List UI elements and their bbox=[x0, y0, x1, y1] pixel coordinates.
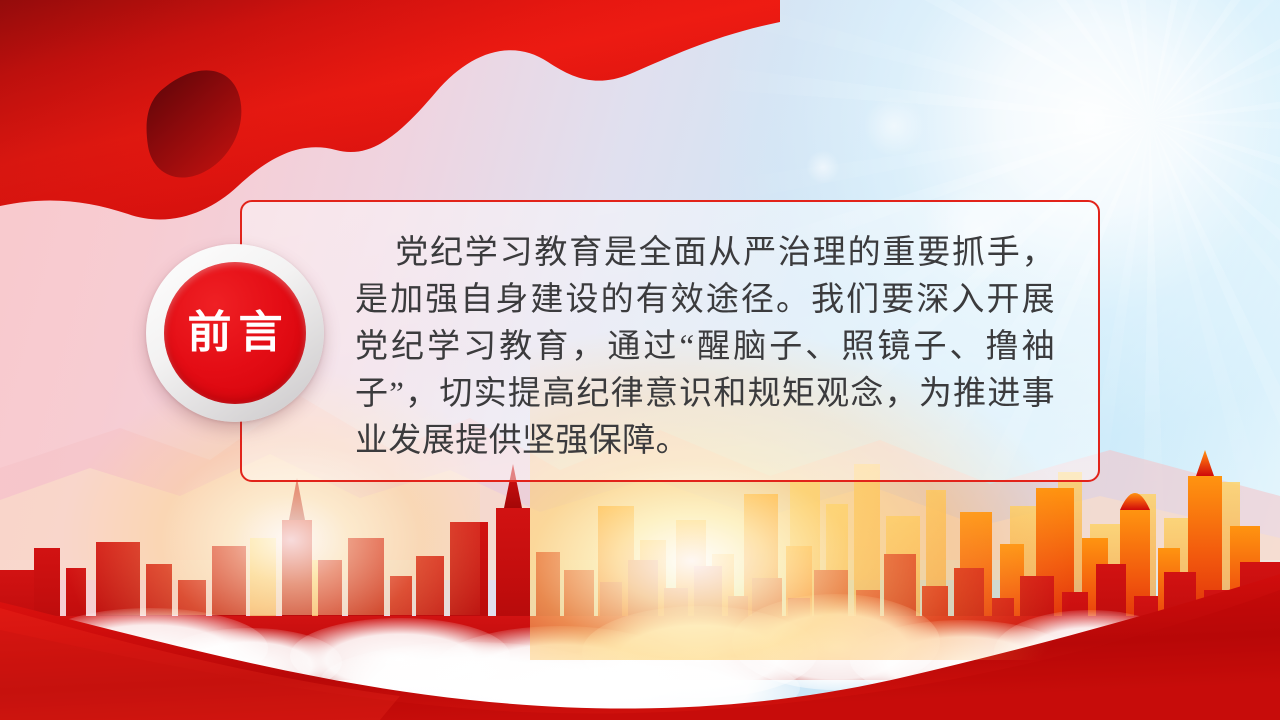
city-near-layer bbox=[0, 464, 1280, 680]
city-mid-layer bbox=[598, 450, 1260, 676]
lens-flare-icon bbox=[806, 150, 840, 184]
preface-badge[interactable]: 前言 bbox=[146, 244, 324, 422]
slide-canvas: 党纪学习教育是全面从严治理的重要抓手，是加强自身建设的有效途径。我们要深入开展党… bbox=[0, 0, 1280, 720]
red-silk-ribbon-icon bbox=[0, 0, 780, 230]
bottom-ribbon-icon bbox=[0, 574, 1280, 720]
cloud-layer bbox=[32, 594, 1280, 720]
city-far-layer bbox=[250, 464, 1240, 660]
preface-body-text: 党纪学习教育是全面从严治理的重要抓手，是加强自身建设的有效途径。我们要深入开展党… bbox=[355, 230, 1055, 465]
preface-badge-inner: 前言 bbox=[164, 262, 306, 404]
lens-flare-icon bbox=[863, 95, 925, 157]
preface-text-panel: 党纪学习教育是全面从严治理的重要抓手，是加强自身建设的有效途径。我们要深入开展党… bbox=[240, 200, 1100, 482]
preface-badge-label: 前言 bbox=[181, 311, 290, 355]
